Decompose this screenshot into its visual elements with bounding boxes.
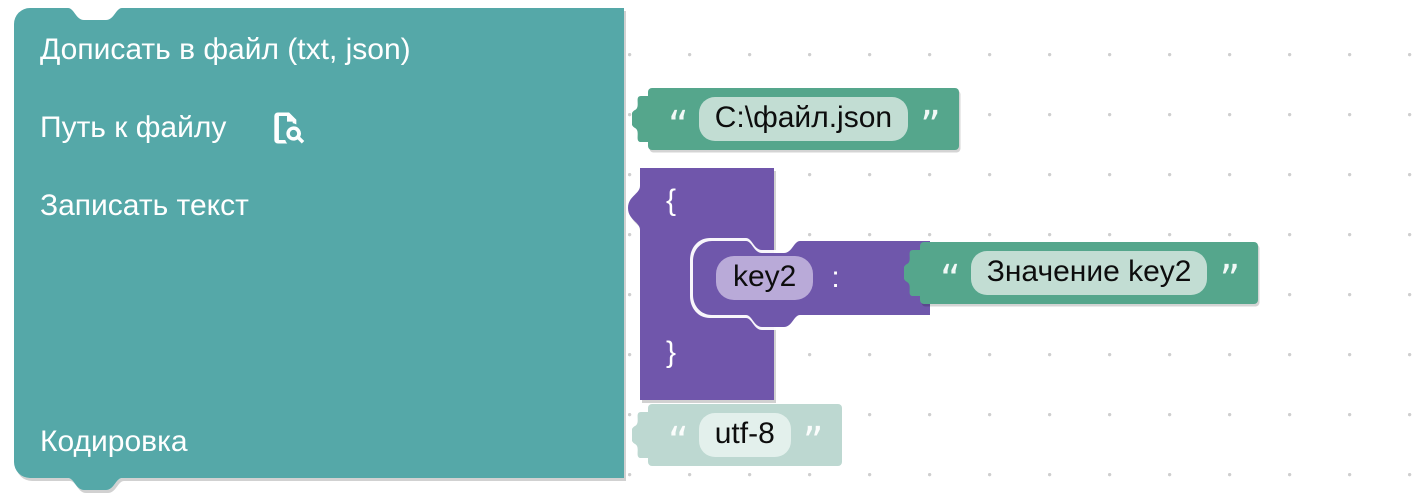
json-open-brace: {: [666, 184, 676, 218]
block-append-to-file[interactable]: Дописать в файл (txt, json) Путь к файлу…: [14, 8, 640, 478]
block-key-value-pair[interactable]: key2 :: [694, 240, 926, 316]
block-row-encoding: Кодировка: [40, 422, 188, 462]
quote-close-icon: ”: [920, 112, 941, 126]
plug-connector-icon: [632, 412, 649, 458]
input-encoding-string-block[interactable]: “ utf-8 ”: [648, 404, 842, 466]
blocks-canvas[interactable]: Дописать в файл (txt, json) Путь к файлу…: [0, 0, 1421, 497]
quote-open-icon: “: [668, 428, 689, 442]
quote-open-icon: “: [668, 112, 689, 126]
quote-close-icon: ”: [803, 428, 824, 442]
quote-close-icon: ”: [1219, 266, 1240, 280]
block-title: Дописать в файл (txt, json): [40, 35, 411, 65]
input-key2-value-string-block[interactable]: “ Значение key2 ”: [920, 242, 1258, 304]
input-file-path-string-block[interactable]: “ C:\файл.json ”: [648, 88, 959, 150]
file-path-input[interactable]: C:\файл.json: [699, 97, 908, 141]
label-file-path: Путь к файлу: [40, 113, 226, 143]
block-row-file-path: Путь к файлу: [40, 108, 306, 148]
label-encoding: Кодировка: [40, 427, 188, 457]
quote-open-icon: “: [940, 266, 961, 280]
file-search-icon[interactable]: [268, 109, 306, 147]
block-title-row: Дописать в файл (txt, json): [40, 30, 411, 70]
key-input[interactable]: key2: [716, 256, 813, 300]
key-value-separator: :: [831, 261, 839, 295]
block-row-write-text: Записать текст: [40, 186, 249, 226]
encoding-input[interactable]: utf-8: [699, 413, 791, 457]
json-close-brace: }: [666, 336, 676, 370]
label-write-text: Записать текст: [40, 191, 249, 221]
plug-connector-icon: [904, 250, 921, 296]
key-value-content: key2 :: [694, 240, 926, 316]
key2-value-input[interactable]: Значение key2: [971, 251, 1208, 295]
plug-connector-icon: [632, 96, 649, 142]
